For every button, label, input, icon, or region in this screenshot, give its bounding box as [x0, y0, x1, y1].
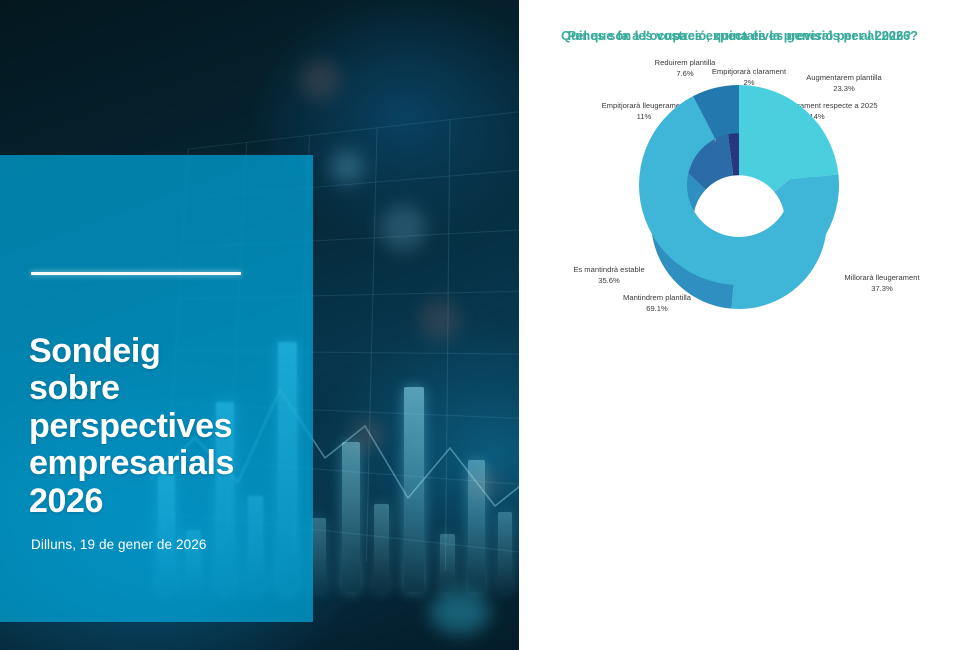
bokeh-decoration: [470, 470, 498, 498]
cover-panel: Sondeig sobre perspectives empresarials …: [0, 0, 519, 650]
segment-label-augmentarem-plantilla: Augmentarem plantilla 23.3%: [754, 72, 934, 94]
donut-chart-employment: [619, 82, 859, 292]
segment-label-reduirem-plantilla: Reduirem plantilla 7.6%: [605, 57, 765, 79]
slide-root: Sondeig sobre perspectives empresarials …: [0, 0, 960, 650]
donut-segment[interactable]: [739, 85, 838, 179]
cover-date: Dilluns, 19 de gener de 2026: [31, 537, 206, 552]
bokeh-decoration: [300, 60, 340, 100]
bokeh-decoration: [352, 420, 382, 450]
chart-title-employment: Pel que fa a l'ocupació, quina és la pre…: [519, 28, 960, 43]
title-divider-rule: [31, 272, 241, 275]
chart-block-employment: Pel que fa a l'ocupació, quina és la pre…: [519, 0, 960, 320]
bokeh-decoration: [380, 205, 426, 251]
bokeh-decoration: [420, 300, 460, 340]
charts-panel: Quines són les vostres expectatives gene…: [519, 0, 960, 650]
cover-title-card: Sondeig sobre perspectives empresarials …: [0, 155, 313, 622]
page-title: Sondeig sobre perspectives empresarials …: [29, 333, 304, 520]
segment-label-mantindrem-plantilla: Mantindrem plantilla 69.1%: [567, 292, 747, 314]
bokeh-decoration: [330, 150, 364, 184]
bokeh-decoration: [430, 590, 490, 634]
